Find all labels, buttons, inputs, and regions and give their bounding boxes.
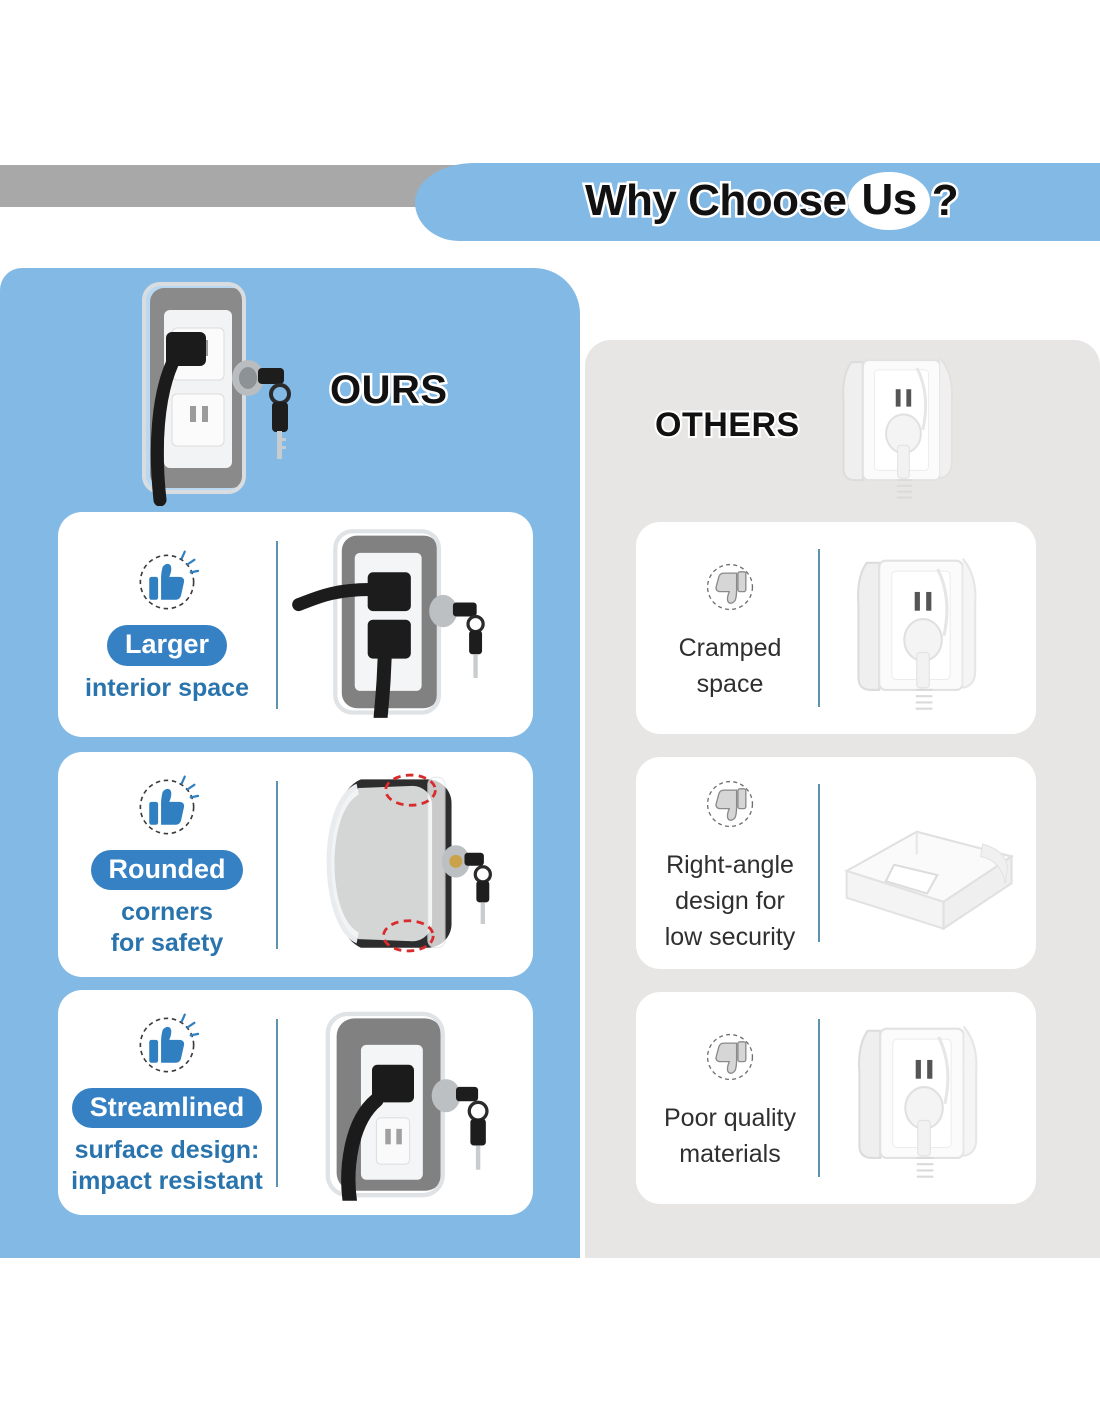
card-text-block: Right-angle design for low security: [636, 757, 818, 969]
others-label: OTHERS: [655, 406, 800, 445]
outlet-cover-front-view-icon: [290, 526, 495, 721]
thumbs-down-icon: [697, 771, 763, 837]
card-image-block: [820, 522, 1036, 734]
ours-feature-card-streamlined[interactable]: Streamlined surface design: impact resis…: [58, 990, 533, 1215]
competitor-right-angle-box-icon: [828, 807, 1024, 941]
feature-text-line3: low security: [665, 919, 796, 955]
banner-title-highlight: Us: [848, 172, 929, 230]
ours-label: OURS: [330, 368, 448, 413]
card-text-block: Streamlined surface design: impact resis…: [58, 990, 276, 1215]
banner-title-part1: Why Choose: [585, 176, 846, 226]
feature-text-line2: materials: [679, 1136, 780, 1172]
feature-badge: Streamlined: [72, 1088, 263, 1128]
card-image-block: [278, 752, 533, 977]
card-image-block: [278, 990, 533, 1215]
header: Why Choose Us ?: [0, 0, 1100, 270]
feature-subtext-line2: for safety: [111, 928, 224, 959]
ours-feature-card-rounded[interactable]: Rounded corners for safety: [58, 752, 533, 977]
infographic-page: Why Choose Us ? OURS OTHERS Larger inter…: [0, 0, 1100, 1422]
thumbs-down-icon: [697, 1024, 763, 1090]
ours-feature-card-larger[interactable]: Larger interior space: [58, 512, 533, 737]
outlet-cover-angled-view-icon: [288, 1004, 498, 1204]
feature-badge: Larger: [107, 625, 227, 665]
thumbs-up-icon: [130, 770, 204, 844]
outlet-cover-box-with-key-icon: [120, 276, 300, 506]
feature-text-line1: Poor quality: [664, 1100, 796, 1136]
feature-badge: Rounded: [91, 850, 244, 890]
others-feature-card-right-angle[interactable]: Right-angle design for low security: [636, 757, 1036, 969]
others-feature-card-poor-quality[interactable]: Poor quality materials: [636, 992, 1036, 1204]
others-hero: OTHERS: [585, 340, 1100, 515]
page-title: Why Choose Us ?: [585, 168, 1025, 234]
card-image-block: [820, 992, 1036, 1204]
thumbs-up-icon: [130, 545, 204, 619]
card-text-block: Rounded corners for safety: [58, 752, 276, 977]
card-image-block: [820, 757, 1036, 969]
card-image-block: [278, 512, 533, 737]
banner-title-question-mark: ?: [932, 176, 958, 226]
feature-subtext: interior space: [85, 673, 249, 704]
feature-subtext-line1: corners: [121, 897, 213, 928]
feature-subtext-line1: surface design:: [75, 1135, 260, 1166]
card-text-block: Cramped space: [636, 522, 818, 734]
feature-text-line2: design for: [675, 883, 785, 919]
others-feature-card-cramped[interactable]: Cramped space: [636, 522, 1036, 734]
feature-text-line1: Cramped: [679, 630, 782, 666]
card-text-block: Larger interior space: [58, 512, 276, 737]
feature-text-line1: Right-angle: [666, 847, 794, 883]
feature-subtext-line2: impact resistant: [71, 1166, 263, 1197]
ours-hero: OURS: [0, 268, 580, 513]
thumbs-down-icon: [697, 554, 763, 620]
thumbs-up-icon: [130, 1008, 204, 1082]
outlet-cover-rounded-corners-icon: [294, 764, 499, 962]
gray-accent-bar: [0, 165, 470, 207]
competitor-cramped-cover-icon: [842, 544, 1002, 716]
card-text-block: Poor quality materials: [636, 992, 818, 1204]
competitor-poor-material-cover-icon: [844, 1012, 1002, 1184]
feature-text-line2: space: [697, 666, 764, 702]
competitor-outlet-cover-icon: [830, 342, 975, 507]
